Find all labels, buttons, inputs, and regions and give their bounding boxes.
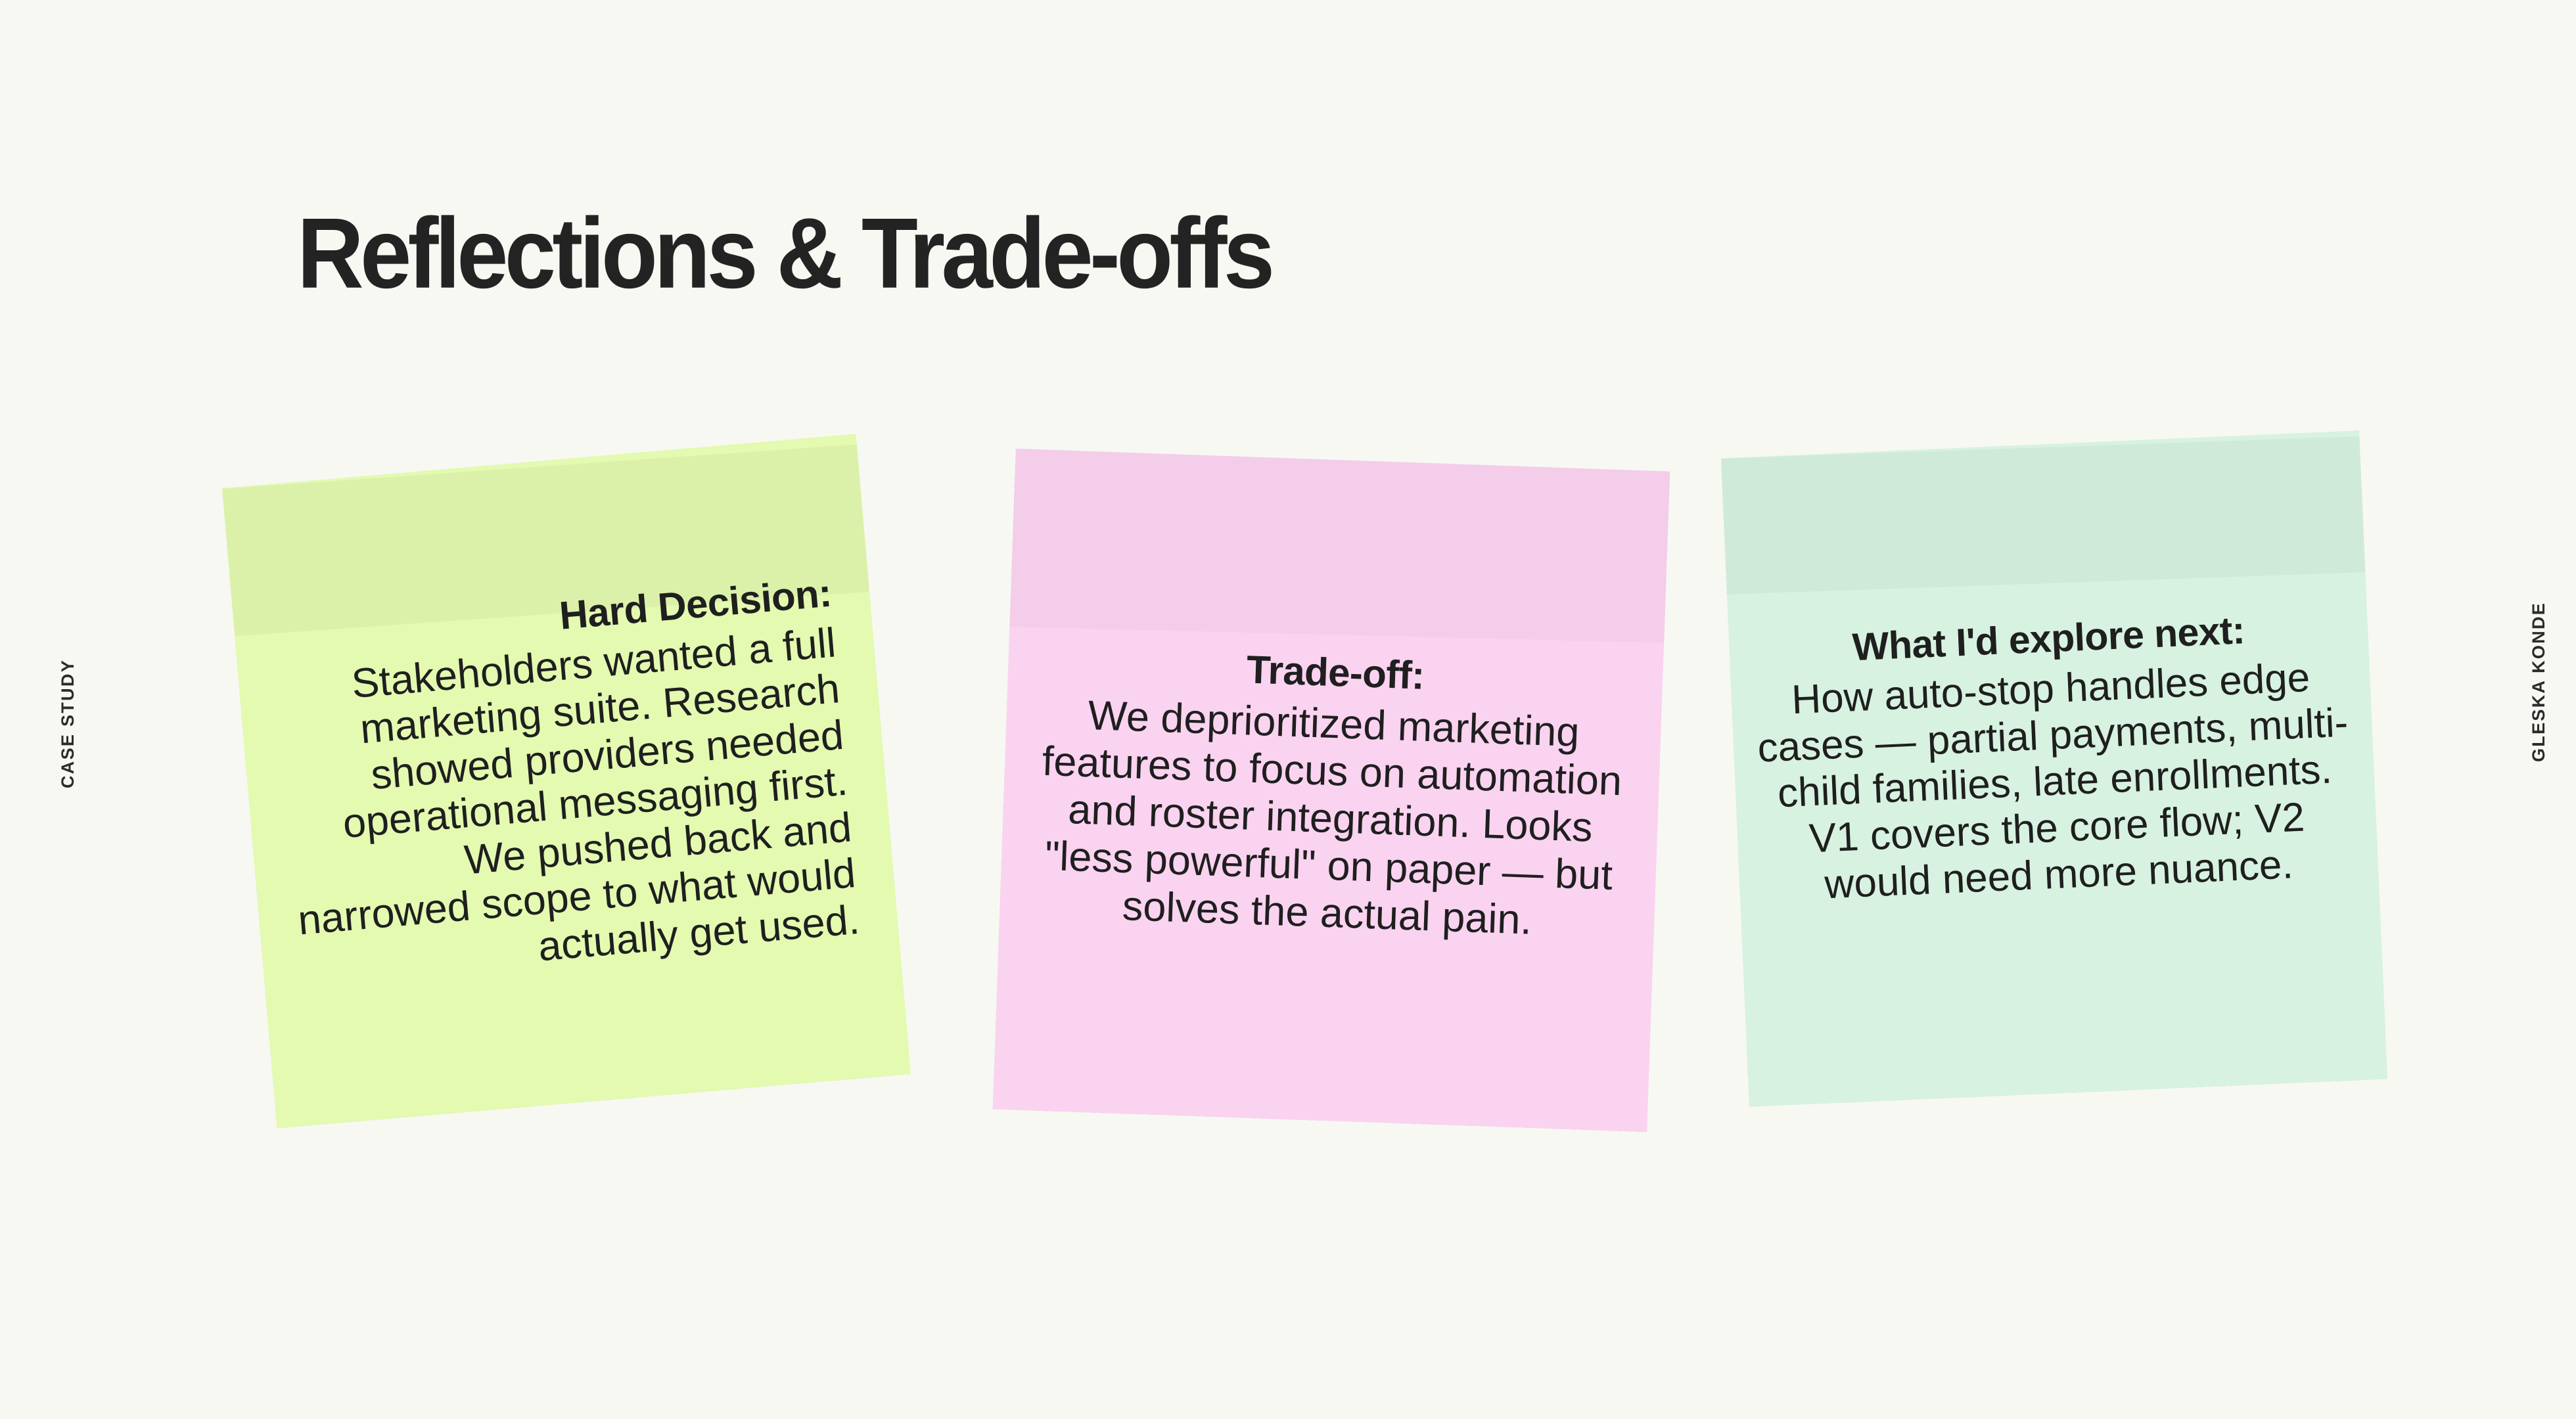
page-title: Reflections & Trade-offs xyxy=(297,203,1271,303)
slide-canvas: Reflections & Trade-offs CASE STUDY GLES… xyxy=(0,0,2576,1419)
note-body-hard-decision: Stakeholders wanted a full marketing sui… xyxy=(296,619,862,970)
side-label-case-study: CASE STUDY xyxy=(58,659,78,788)
note-text-explore-next: What I'd explore next:How auto-stop hand… xyxy=(1728,600,2379,912)
note-crease-line xyxy=(993,449,1670,644)
note-crease-line xyxy=(1721,435,2387,596)
note-text-hard-decision: Hard Decision:Stakeholders wanted a full… xyxy=(233,564,899,993)
note-body-explore-next: How auto-stop handles edge cases — parti… xyxy=(1757,655,2349,907)
sticky-note-hard-decision[interactable]: Hard Decision:Stakeholders wanted a full… xyxy=(222,434,911,1128)
sticky-note-explore-next[interactable]: What I'd explore next:How auto-stop hand… xyxy=(1721,430,2387,1106)
sticky-note-trade-off[interactable]: Trade-off:We deprioritized marketing fea… xyxy=(993,449,1670,1132)
note-body-trade-off: We deprioritized marketing features to f… xyxy=(1042,692,1622,943)
side-label-author: GLESKA KONDE xyxy=(2529,602,2549,762)
note-text-trade-off: Trade-off:We deprioritized marketing fea… xyxy=(1000,636,1664,949)
